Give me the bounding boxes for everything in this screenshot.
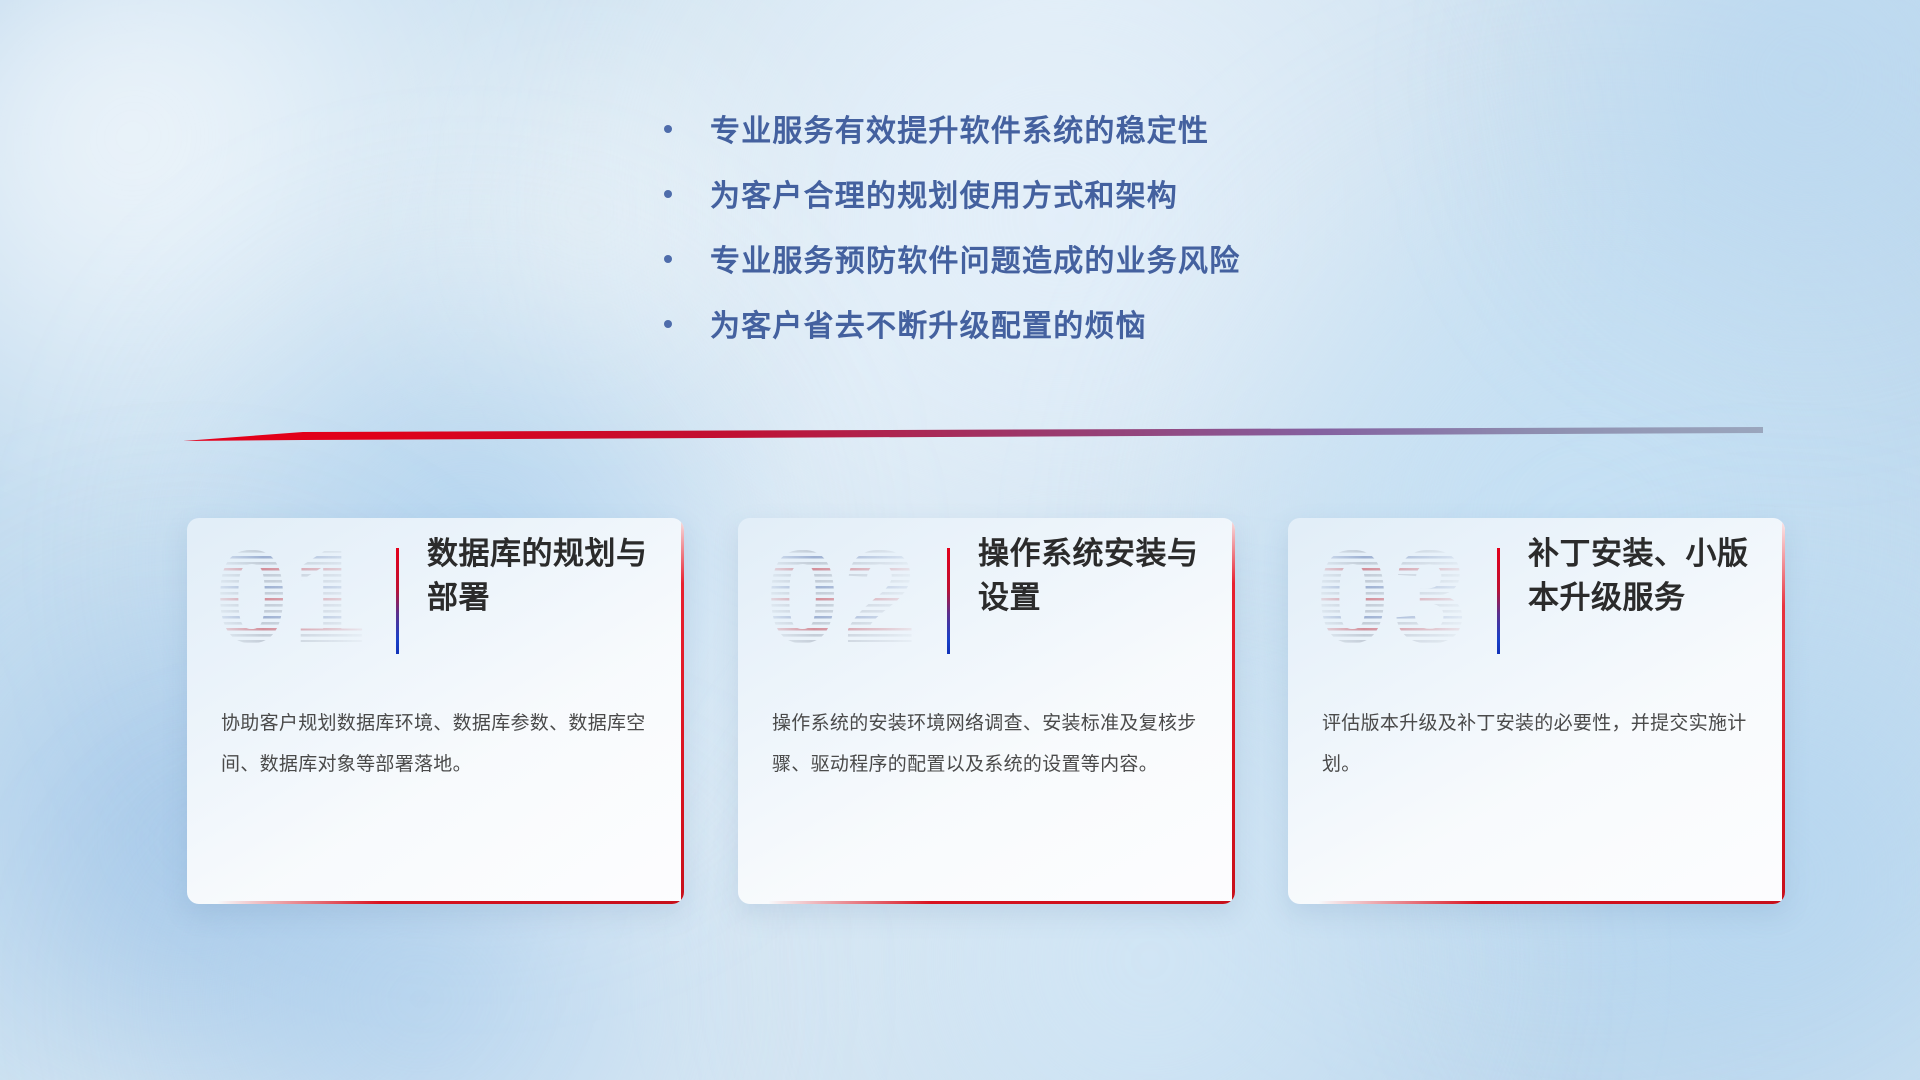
list-item: 为客户省去不断升级配置的烦恼 (664, 301, 1564, 366)
service-cards: 01 数据库的规划与部署 协助客户规划数据库环境、数据库参数、数据库空间、数据库… (0, 518, 1920, 928)
card-accent-bottom (1318, 901, 1785, 904)
bullet-point-icon (664, 320, 672, 328)
card-body-text: 操作系统的安装环境网络调查、安装标准及复核步骤、驱动程序的配置以及系统的设置等内… (772, 704, 1209, 786)
decorative-number-03-icon: 03 (1316, 538, 1476, 666)
card-title-divider (947, 548, 950, 654)
card-body-text: 评估版本升级及补丁安装的必要性，并提交实施计划。 (1322, 704, 1759, 786)
card-title-divider (396, 548, 399, 654)
service-card-02[interactable]: 02 操作系统安装与设置 操作系统的安装环境网络调查、安装标准及复核步骤、驱动程… (738, 518, 1235, 904)
bullet-point-icon (664, 190, 672, 198)
list-item: 为客户合理的规划使用方式和架构 (664, 171, 1564, 236)
card-header: 01 数据库的规划与部署 (187, 518, 684, 688)
tapered-divider (183, 427, 1763, 449)
bullet-point-icon (664, 255, 672, 263)
card-header: 02 操作系统安装与设置 (738, 518, 1235, 688)
decorative-number-01-icon: 01 (215, 538, 375, 666)
service-card-01[interactable]: 01 数据库的规划与部署 协助客户规划数据库环境、数据库参数、数据库空间、数据库… (187, 518, 684, 904)
card-header: 03 补丁安装、小版本升级服务 (1288, 518, 1785, 688)
card-title: 补丁安装、小版本升级服务 (1528, 532, 1771, 620)
card-body-text: 协助客户规划数据库环境、数据库参数、数据库空间、数据库对象等部署落地。 (221, 704, 658, 786)
card-title-divider (1497, 548, 1500, 654)
decorative-number-02-icon: 02 (766, 538, 926, 666)
list-item: 专业服务有效提升软件系统的稳定性 (664, 106, 1564, 171)
card-accent-bottom (217, 901, 684, 904)
bullet-text: 专业服务预防软件问题造成的业务风险 (710, 236, 1240, 280)
card-accent-bottom (768, 901, 1235, 904)
bullet-text: 专业服务有效提升软件系统的稳定性 (710, 106, 1209, 150)
benefits-bullet-list: 专业服务有效提升软件系统的稳定性 为客户合理的规划使用方式和架构 专业服务预防软… (664, 106, 1564, 366)
card-title: 操作系统安装与设置 (978, 532, 1221, 620)
bullet-point-icon (664, 125, 672, 133)
bullet-text: 为客户省去不断升级配置的烦恼 (710, 301, 1147, 345)
card-title: 数据库的规划与部署 (427, 532, 670, 620)
bullet-text: 为客户合理的规划使用方式和架构 (710, 171, 1178, 215)
list-item: 专业服务预防软件问题造成的业务风险 (664, 236, 1564, 301)
service-card-03[interactable]: 03 补丁安装、小版本升级服务 评估版本升级及补丁安装的必要性，并提交实施计划。 (1288, 518, 1785, 904)
